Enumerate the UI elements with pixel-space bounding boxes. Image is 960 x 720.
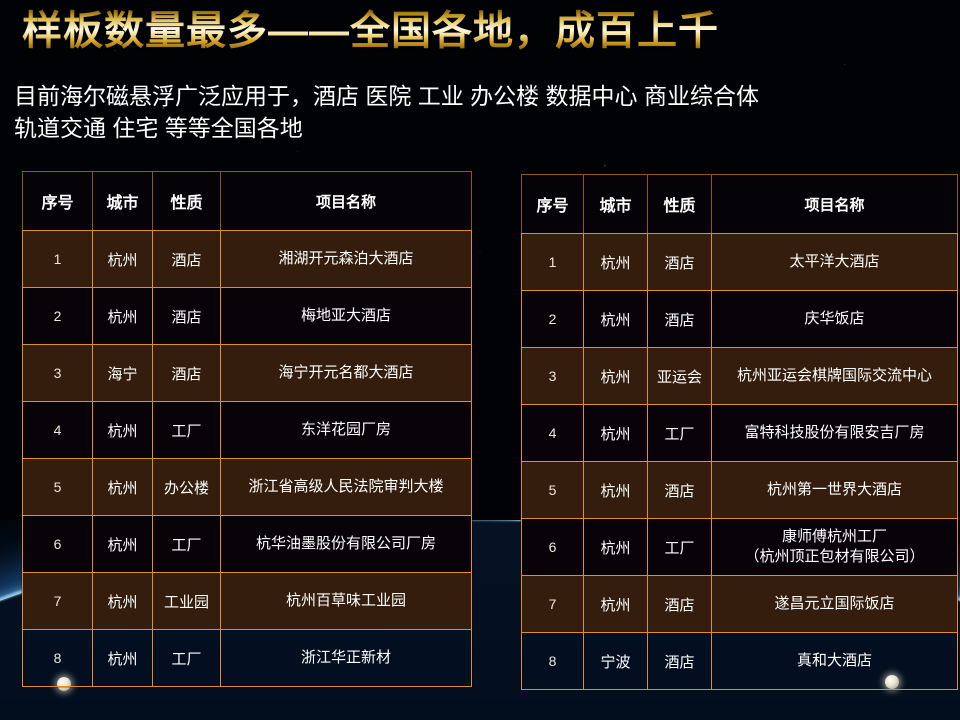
cell-index: 6 [522, 519, 584, 576]
cell-project: 康师傅杭州工厂 （杭州顶正包材有限公司） [712, 519, 958, 576]
cell-index: 1 [522, 234, 584, 291]
cell-type: 工厂 [153, 630, 221, 687]
table-row[interactable]: 5 杭州 办公楼 浙江省高级人民法院审判大楼 [23, 459, 472, 516]
column-header-city: 城市 [584, 175, 648, 234]
cell-index: 4 [23, 402, 93, 459]
cell-city: 杭州 [93, 459, 153, 516]
cell-type: 酒店 [648, 234, 712, 291]
cell-city: 杭州 [584, 462, 648, 519]
cell-index: 5 [522, 462, 584, 519]
cell-project: 海宁开元名都大酒店 [221, 345, 472, 402]
table-row[interactable]: 7 杭州 工业园 杭州百草味工业园 [23, 573, 472, 630]
cell-project: 杭州亚运会棋牌国际交流中心 [712, 348, 958, 405]
left-table-body: 1 杭州 酒店 湘湖开元森泊大酒店 2 杭州 酒店 梅地亚大酒店 3 海宁 酒店… [23, 231, 472, 687]
cell-city: 杭州 [93, 573, 153, 630]
table-row[interactable]: 3 杭州 亚运会 杭州亚运会棋牌国际交流中心 [522, 348, 958, 405]
cell-type: 酒店 [153, 288, 221, 345]
cell-project: 湘湖开元森泊大酒店 [221, 231, 472, 288]
left-project-table: 序号 城市 性质 项目名称 1 杭州 酒店 湘湖开元森泊大酒店 2 杭州 酒店 [22, 171, 472, 687]
cell-project: 真和大酒店 [712, 633, 958, 690]
table-header-row: 序号 城市 性质 项目名称 [23, 172, 472, 231]
table-row[interactable]: 8 杭州 工厂 浙江华正新材 [23, 630, 472, 687]
column-header-type: 性质 [153, 172, 221, 231]
subtitle-line-2: 轨道交通 住宅 等等全国各地 [14, 112, 954, 144]
table-row[interactable]: 1 杭州 酒店 太平洋大酒店 [522, 234, 958, 291]
column-header-type: 性质 [648, 175, 712, 234]
cell-city: 杭州 [93, 402, 153, 459]
cell-type: 工厂 [648, 519, 712, 576]
cell-type: 工厂 [153, 516, 221, 573]
cell-type: 酒店 [648, 633, 712, 690]
subtitle-block: 目前海尔磁悬浮广泛应用于，酒店 医院 工业 办公楼 数据中心 商业综合体 轨道交… [14, 80, 954, 144]
cell-index: 6 [23, 516, 93, 573]
table-row[interactable]: 8 宁波 酒店 真和大酒店 [522, 633, 958, 690]
cell-index: 4 [522, 405, 584, 462]
cell-project: 太平洋大酒店 [712, 234, 958, 291]
cell-city: 宁波 [584, 633, 648, 690]
cell-type: 工业园 [153, 573, 221, 630]
cell-index: 3 [522, 348, 584, 405]
cell-city: 杭州 [584, 348, 648, 405]
cell-type: 酒店 [648, 291, 712, 348]
cell-type: 亚运会 [648, 348, 712, 405]
column-header-city: 城市 [93, 172, 153, 231]
cell-city: 杭州 [584, 519, 648, 576]
cell-city: 杭州 [584, 291, 648, 348]
cell-city: 杭州 [93, 288, 153, 345]
table-header-row: 序号 城市 性质 项目名称 [522, 175, 958, 234]
right-table-body: 1 杭州 酒店 太平洋大酒店 2 杭州 酒店 庆华饭店 3 杭州 亚运会 杭州亚… [522, 234, 958, 690]
cell-index: 7 [23, 573, 93, 630]
cell-index: 2 [23, 288, 93, 345]
cell-city: 海宁 [93, 345, 153, 402]
slide-root: 样板数量最多——全国各地，成百上千 目前海尔磁悬浮广泛应用于，酒店 医院 工业 … [0, 0, 960, 720]
table-row[interactable]: 2 杭州 酒店 庆华饭店 [522, 291, 958, 348]
cell-project: 浙江华正新材 [221, 630, 472, 687]
cell-type: 酒店 [648, 462, 712, 519]
page-title: 样板数量最多——全国各地，成百上千 [22, 8, 942, 55]
cell-city: 杭州 [584, 405, 648, 462]
table-row[interactable]: 3 海宁 酒店 海宁开元名都大酒店 [23, 345, 472, 402]
column-header-project: 项目名称 [221, 172, 472, 231]
cell-type: 工厂 [648, 405, 712, 462]
cell-project-line-2: （杭州顶正包材有限公司） [715, 547, 954, 567]
table-row[interactable]: 4 杭州 工厂 东洋花园厂房 [23, 402, 472, 459]
cell-city: 杭州 [93, 231, 153, 288]
cell-index: 8 [23, 630, 93, 687]
table-row[interactable]: 7 杭州 酒店 遂昌元立国际饭店 [522, 576, 958, 633]
cell-index: 8 [522, 633, 584, 690]
cell-city: 杭州 [93, 630, 153, 687]
cell-city: 杭州 [584, 234, 648, 291]
cell-project: 庆华饭店 [712, 291, 958, 348]
table-row[interactable]: 1 杭州 酒店 湘湖开元森泊大酒店 [23, 231, 472, 288]
cell-index: 1 [23, 231, 93, 288]
right-project-table: 序号 城市 性质 项目名称 1 杭州 酒店 太平洋大酒店 2 杭州 酒店 庆华饭 [521, 174, 958, 690]
cell-type: 酒店 [153, 345, 221, 402]
cell-index: 7 [522, 576, 584, 633]
cell-project: 杭州百草味工业园 [221, 573, 472, 630]
column-header-index: 序号 [522, 175, 584, 234]
column-header-project: 项目名称 [712, 175, 958, 234]
cell-index: 2 [522, 291, 584, 348]
cell-type: 酒店 [153, 231, 221, 288]
cell-city: 杭州 [93, 516, 153, 573]
cell-project: 杭华油墨股份有限公司厂房 [221, 516, 472, 573]
cell-city: 杭州 [584, 576, 648, 633]
subtitle-line-1: 目前海尔磁悬浮广泛应用于，酒店 医院 工业 办公楼 数据中心 商业综合体 [14, 80, 954, 112]
cell-type: 酒店 [648, 576, 712, 633]
cell-project: 富特科技股份有限安吉厂房 [712, 405, 958, 462]
cell-project: 东洋花园厂房 [221, 402, 472, 459]
cell-project-line-1: 康师傅杭州工厂 [782, 528, 887, 545]
cell-project: 梅地亚大酒店 [221, 288, 472, 345]
cell-type: 办公楼 [153, 459, 221, 516]
title-block: 样板数量最多——全国各地，成百上千 [22, 8, 942, 55]
table-row[interactable]: 5 杭州 酒店 杭州第一世界大酒店 [522, 462, 958, 519]
table-row[interactable]: 6 杭州 工厂 杭华油墨股份有限公司厂房 [23, 516, 472, 573]
cell-index: 3 [23, 345, 93, 402]
table-row[interactable]: 4 杭州 工厂 富特科技股份有限安吉厂房 [522, 405, 958, 462]
table-row[interactable]: 6 杭州 工厂 康师傅杭州工厂 （杭州顶正包材有限公司） [522, 519, 958, 576]
column-header-index: 序号 [23, 172, 93, 231]
cell-type: 工厂 [153, 402, 221, 459]
cell-project: 杭州第一世界大酒店 [712, 462, 958, 519]
table-row[interactable]: 2 杭州 酒店 梅地亚大酒店 [23, 288, 472, 345]
cell-project: 遂昌元立国际饭店 [712, 576, 958, 633]
cell-index: 5 [23, 459, 93, 516]
cell-project: 浙江省高级人民法院审判大楼 [221, 459, 472, 516]
